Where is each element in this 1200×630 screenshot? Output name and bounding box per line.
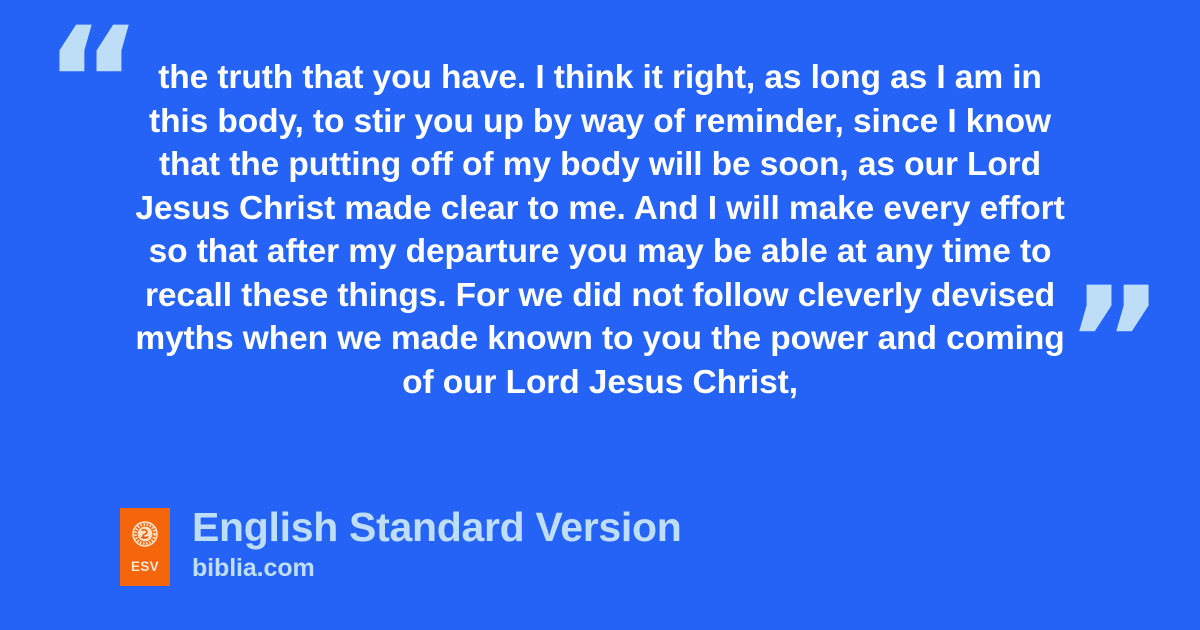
quote-line: so that after my departure you may be ab…: [60, 230, 1140, 274]
esv-badge-label: ESV: [120, 559, 170, 574]
footer-attribution: ESV English Standard Version biblia.com: [120, 508, 681, 586]
site-url[interactable]: biblia.com: [192, 553, 681, 583]
quote-line: that the putting off of my body will be …: [60, 143, 1140, 187]
bible-version-name: English Standard Version: [192, 505, 681, 549]
footer-text-group: English Standard Version biblia.com: [192, 508, 681, 583]
quote-line: of our Lord Jesus Christ,: [60, 361, 1140, 405]
quote-card: “ ” the truth that you have. I think it …: [0, 0, 1200, 630]
esv-logo-badge: ESV: [120, 508, 170, 586]
quote-line: this body, to stir you up by way of remi…: [60, 100, 1140, 144]
quote-line: myths when we made known to you the powe…: [60, 317, 1140, 361]
quote-text: the truth that you have. I think it righ…: [60, 56, 1140, 404]
quote-line: the truth that you have. I think it righ…: [60, 56, 1140, 100]
esv-seal-icon: [132, 521, 158, 552]
quote-line: recall these things. For we did not foll…: [60, 274, 1140, 318]
quote-line: Jesus Christ made clear to me. And I wil…: [60, 187, 1140, 231]
